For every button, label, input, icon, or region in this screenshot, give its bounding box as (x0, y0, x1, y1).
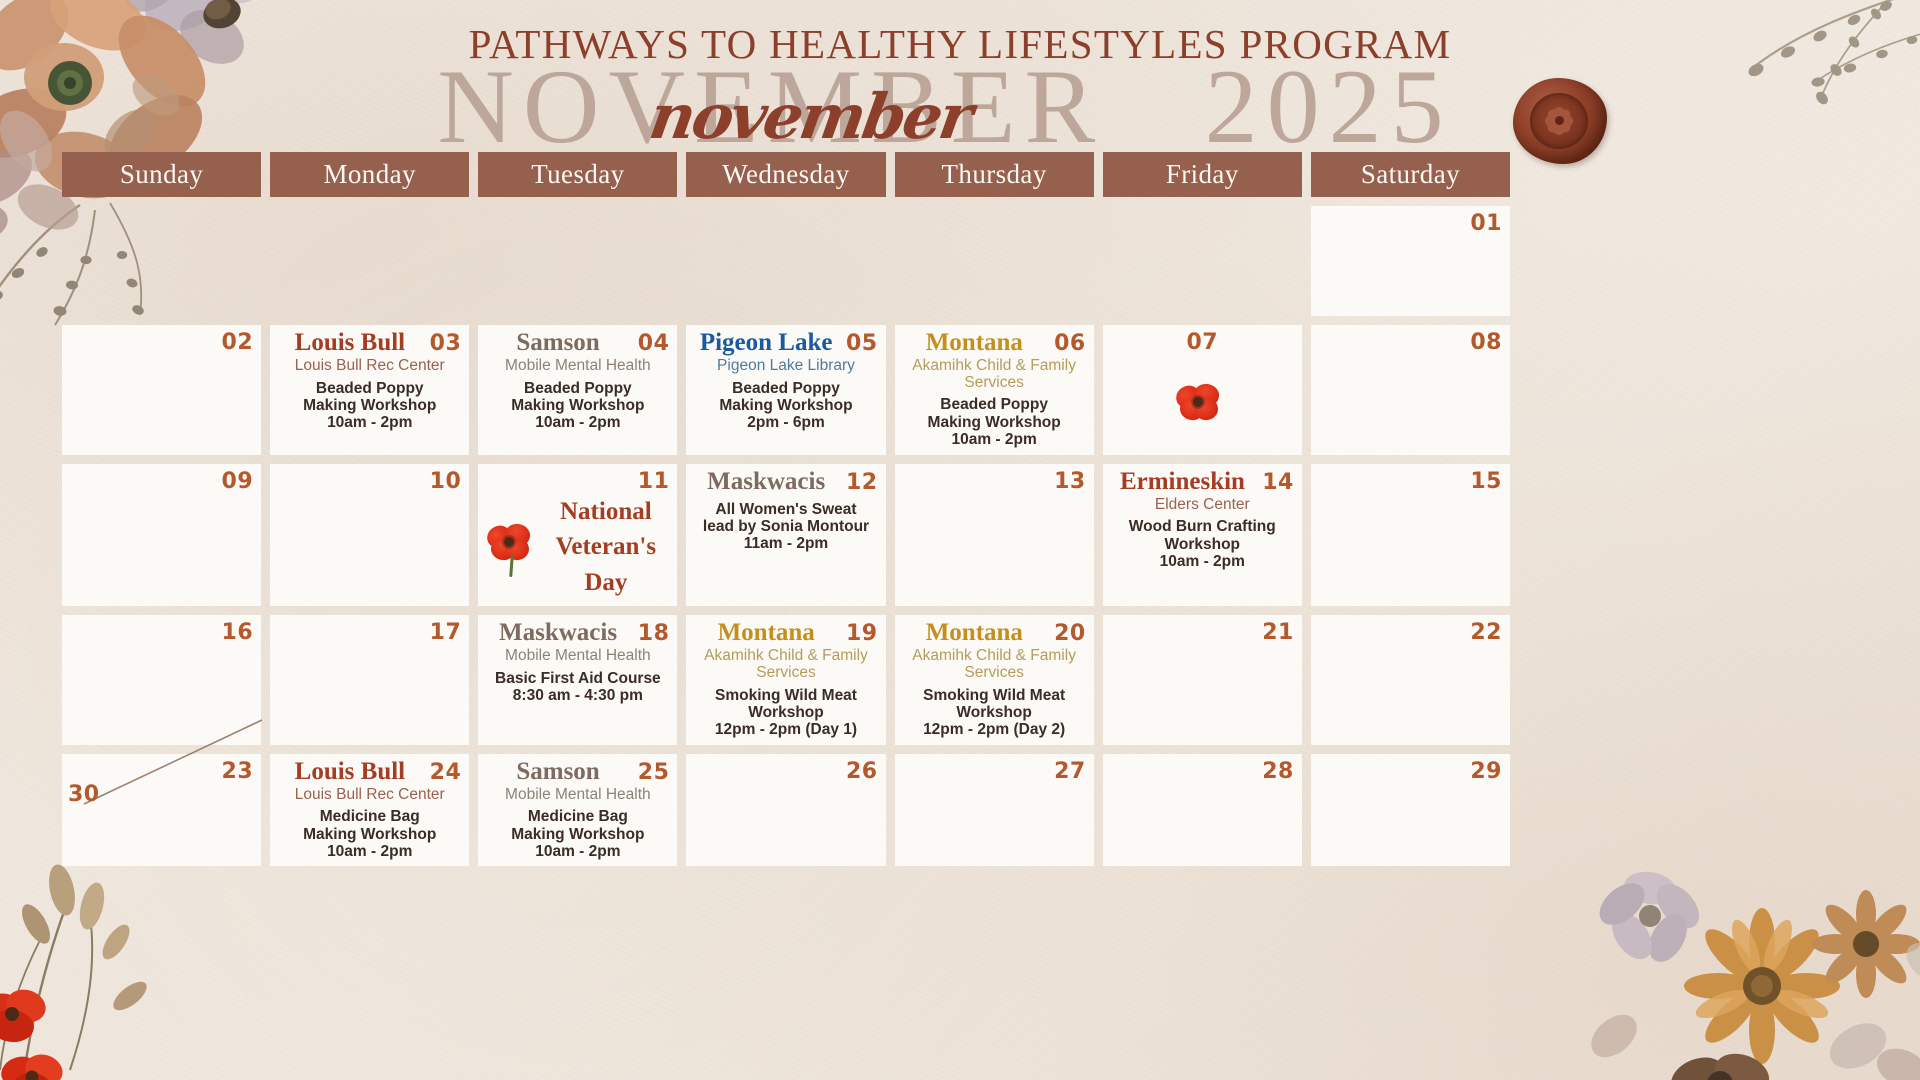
day-number: 24 (430, 760, 462, 785)
day-number: 27 (1054, 759, 1086, 784)
day-cell-header: 08 (1319, 330, 1502, 357)
calendar-day-cell-14[interactable]: Ermineskin14Elders CenterWood Burn Craft… (1103, 464, 1302, 607)
calendar-day-cell-empty (62, 206, 261, 316)
day-cell-header: Ermineskin14 (1111, 469, 1294, 496)
day-cell-header (903, 211, 1086, 238)
calendar-day-cell-10[interactable]: 10 (270, 464, 469, 607)
day-cell-header (694, 211, 877, 238)
event-venue: Louis Bull Rec Center (278, 787, 461, 804)
day-number: 11 (638, 469, 670, 494)
calendar-day-cell-27[interactable]: 27 (895, 754, 1094, 867)
day-number: 21 (1262, 620, 1294, 645)
calendar-day-cell-empty (1103, 206, 1302, 316)
event-description: Smoking Wild Meat Workshop 12pm - 2pm (D… (694, 687, 877, 739)
day-number: 06 (1054, 331, 1086, 356)
event-venue: Mobile Mental Health (486, 648, 669, 665)
day-number: 28 (1262, 759, 1294, 784)
day-cell-header: Maskwacis12 (694, 469, 877, 496)
day-cell-header (278, 211, 461, 238)
day-number: 03 (430, 331, 462, 356)
day-number: 19 (846, 621, 878, 646)
calendar-week-row: 1617Maskwacis18Mobile Mental HealthBasic… (62, 615, 1510, 745)
poppy-decoration (1111, 357, 1294, 449)
weekday-header-friday: Friday (1103, 152, 1302, 197)
calendar-day-cell-empty (686, 206, 885, 316)
floral-decoration-bottom-right (1530, 840, 1920, 1080)
day-number: 29 (1470, 759, 1502, 784)
nation-name: Samson (486, 759, 630, 786)
day-cell-header: 22 (1319, 620, 1502, 647)
day-number: 16 (222, 620, 254, 645)
day-cell-header: Louis Bull03 (278, 330, 461, 357)
calendar-day-cell-05[interactable]: Pigeon Lake05Pigeon Lake LibraryBeaded P… (686, 325, 885, 455)
wax-seal-icon (1513, 78, 1607, 164)
calendar-day-cell-empty (478, 206, 677, 316)
day-cell-header (486, 211, 669, 238)
day-number: 20 (1054, 621, 1086, 646)
day-number: 14 (1262, 470, 1294, 495)
weekday-header-monday: Monday (270, 152, 469, 197)
poppy-flower-icon (486, 519, 538, 575)
nation-name: Louis Bull (278, 330, 422, 357)
calendar-day-cell-11[interactable]: 11National Veteran's Day (478, 464, 677, 607)
nation-name: Samson (486, 330, 630, 357)
calendar-day-cell-21[interactable]: 21 (1103, 615, 1302, 745)
weekday-header-tuesday: Tuesday (478, 152, 677, 197)
day-cell-header (70, 211, 253, 238)
calendar-day-cell-22[interactable]: 22 (1311, 615, 1510, 745)
calendar-page: PATHWAYS TO HEALTHY LIFESTYLES PROGRAM N… (0, 0, 1920, 1080)
day-cell-header: 07 (1186, 330, 1218, 357)
day-cell-header: 09 (70, 469, 253, 496)
day-cell-header: Montana19 (694, 620, 877, 647)
day-number: 01 (1470, 211, 1502, 236)
calendar-week-row: 01 (62, 206, 1510, 316)
event-description: Beaded Poppy Making Workshop 2pm - 6pm (694, 380, 877, 432)
event-description: Medicine Bag Making Workshop 10am - 2pm (278, 808, 461, 860)
day-cell-header: 16 (70, 620, 253, 647)
day-number: 05 (846, 331, 878, 356)
day-cell-header: Montana20 (903, 620, 1086, 647)
calendar-day-cell-08[interactable]: 08 (1311, 325, 1510, 455)
event-description: Wood Burn Crafting Workshop 10am - 2pm (1111, 518, 1294, 570)
day-cell-header: Samson04 (486, 330, 669, 357)
weekday-header-row: SundayMondayTuesdayWednesdayThursdayFrid… (62, 152, 1510, 197)
day-number: 12 (846, 470, 878, 495)
poppy-flower-icon (1175, 379, 1229, 431)
day-cell-header: 13 (903, 469, 1086, 496)
event-description: Beaded Poppy Making Workshop 10am - 2pm (278, 380, 461, 432)
day-cell-header: 28 (1111, 759, 1294, 786)
day-number: 08 (1470, 330, 1502, 355)
event-venue: Mobile Mental Health (486, 787, 669, 804)
day-cell-header: Maskwacis18 (486, 620, 669, 647)
calendar-day-cell-03[interactable]: Louis Bull03Louis Bull Rec CenterBeaded … (270, 325, 469, 455)
calendar-day-cell-16[interactable]: 16 (62, 615, 261, 745)
event-venue: Mobile Mental Health (486, 358, 669, 375)
day-number: 15 (1470, 469, 1502, 494)
calendar-day-cell-19[interactable]: Montana19Akamihk Child & Family Services… (686, 615, 885, 745)
calendar-day-cell-09[interactable]: 09 (62, 464, 261, 607)
day-cell-header: 15 (1319, 469, 1502, 496)
veterans-day-block: National Veteran's Day (486, 494, 669, 601)
calendar-day-cell-13[interactable]: 13 (895, 464, 1094, 607)
calendar-day-cell-02[interactable]: 02 (62, 325, 261, 455)
calendar-week-row: 02Louis Bull03Louis Bull Rec CenterBeade… (62, 325, 1510, 455)
day-number: 10 (430, 469, 462, 494)
weekday-header-sunday: Sunday (62, 152, 261, 197)
calendar-day-cell-12[interactable]: Maskwacis12All Women's Sweat lead by Son… (686, 464, 885, 607)
day-number: 22 (1470, 620, 1502, 645)
day-cell-header: Louis Bull24 (278, 759, 461, 786)
day-number: 04 (638, 331, 670, 356)
day-cell-header: Samson25 (486, 759, 669, 786)
day-number: 09 (222, 469, 254, 494)
calendar-week-row: 23Louis Bull24Louis Bull Rec CenterMedic… (62, 754, 1510, 867)
calendar-day-cell-17[interactable]: 17 (270, 615, 469, 745)
event-venue: Akamihk Child & Family Services (903, 358, 1086, 391)
event-description: Smoking Wild Meat Workshop 12pm - 2pm (D… (903, 687, 1086, 739)
event-description: All Women's Sweat lead by Sonia Montour … (694, 501, 877, 553)
day-cell-header: 26 (694, 759, 877, 786)
nation-name: Maskwacis (694, 469, 838, 496)
calendar-day-cell-29[interactable]: 29 (1311, 754, 1510, 867)
nation-name: Louis Bull (278, 759, 422, 786)
event-venue: Louis Bull Rec Center (278, 358, 461, 375)
calendar-day-cell-18[interactable]: Maskwacis18Mobile Mental HealthBasic Fir… (478, 615, 677, 745)
day-cell-header: 01 (1319, 211, 1502, 238)
calendar-day-cell-25[interactable]: Samson25Mobile Mental HealthMedicine Bag… (478, 754, 677, 867)
event-venue: Elders Center (1111, 497, 1294, 514)
calendar-day-cell-24[interactable]: Louis Bull24Louis Bull Rec CenterMedicin… (270, 754, 469, 867)
day-cell-header: Pigeon Lake05 (694, 330, 877, 357)
calendar-day-cell-04[interactable]: Samson04Mobile Mental HealthBeaded Poppy… (478, 325, 677, 455)
calendar-day-cell-28[interactable]: 28 (1103, 754, 1302, 867)
day-cell-header: 10 (278, 469, 461, 496)
calendar-weeks: 0102Louis Bull03Louis Bull Rec CenterBea… (62, 206, 1510, 866)
weekday-header-wednesday: Wednesday (686, 152, 885, 197)
day-cell-header: 27 (903, 759, 1086, 786)
event-description: Basic First Aid Course 8:30 am - 4:30 pm (486, 670, 669, 705)
day-cell-header: Montana06 (903, 330, 1086, 357)
event-venue: Pigeon Lake Library (694, 358, 877, 375)
day-cell-header: 11 (486, 469, 669, 496)
event-description: Beaded Poppy Making Workshop 10am - 2pm (903, 396, 1086, 448)
day-number: 13 (1054, 469, 1086, 494)
day-number: 17 (430, 620, 462, 645)
nation-name: Ermineskin (1111, 469, 1255, 496)
weekday-header-thursday: Thursday (895, 152, 1094, 197)
nation-name: Maskwacis (486, 620, 630, 647)
day-number: 18 (638, 621, 670, 646)
day-cell-header: 17 (278, 620, 461, 647)
day-cell-header: 29 (1319, 759, 1502, 786)
calendar-day-cell-empty (895, 206, 1094, 316)
veterans-day-label: National Veteran's Day (542, 494, 669, 601)
calendar-grid: SundayMondayTuesdayWednesdayThursdayFrid… (62, 152, 1510, 866)
day-number: 07 (1186, 330, 1218, 355)
month-name-script: november (0, 80, 1920, 153)
calendar-day-cell-01[interactable]: 01 (1311, 206, 1510, 316)
weekday-header-saturday: Saturday (1311, 152, 1510, 197)
event-description: Medicine Bag Making Workshop 10am - 2pm (486, 808, 669, 860)
event-description: Beaded Poppy Making Workshop 10am - 2pm (486, 380, 669, 432)
nation-name: Montana (903, 330, 1047, 357)
day-number: 25 (638, 760, 670, 785)
calendar-day-cell-23[interactable]: 23 (62, 754, 261, 867)
calendar-week-row: 091011National Veteran's DayMaskwacis12A… (62, 464, 1510, 607)
day-number: 26 (846, 759, 878, 784)
day-number-30: 30 (68, 782, 100, 807)
calendar-day-cell-empty (270, 206, 469, 316)
day-cell-header: 02 (70, 330, 253, 357)
calendar-day-cell-15[interactable]: 15 (1311, 464, 1510, 607)
nation-name: Montana (903, 620, 1047, 647)
event-venue: Akamihk Child & Family Services (903, 648, 1086, 681)
day-cell-header (1111, 211, 1294, 238)
calendar-day-cell-26[interactable]: 26 (686, 754, 885, 867)
calendar-day-cell-07[interactable]: 07 (1103, 325, 1302, 455)
event-venue: Akamihk Child & Family Services (694, 648, 877, 681)
nation-name: Pigeon Lake (694, 330, 838, 357)
day-number: 23 (222, 759, 254, 784)
day-cell-header: 21 (1111, 620, 1294, 647)
nation-name: Montana (694, 620, 838, 647)
calendar-day-cell-06[interactable]: Montana06Akamihk Child & Family Services… (895, 325, 1094, 455)
calendar-day-cell-20[interactable]: Montana20Akamihk Child & Family Services… (895, 615, 1094, 745)
day-number: 02 (222, 330, 254, 355)
